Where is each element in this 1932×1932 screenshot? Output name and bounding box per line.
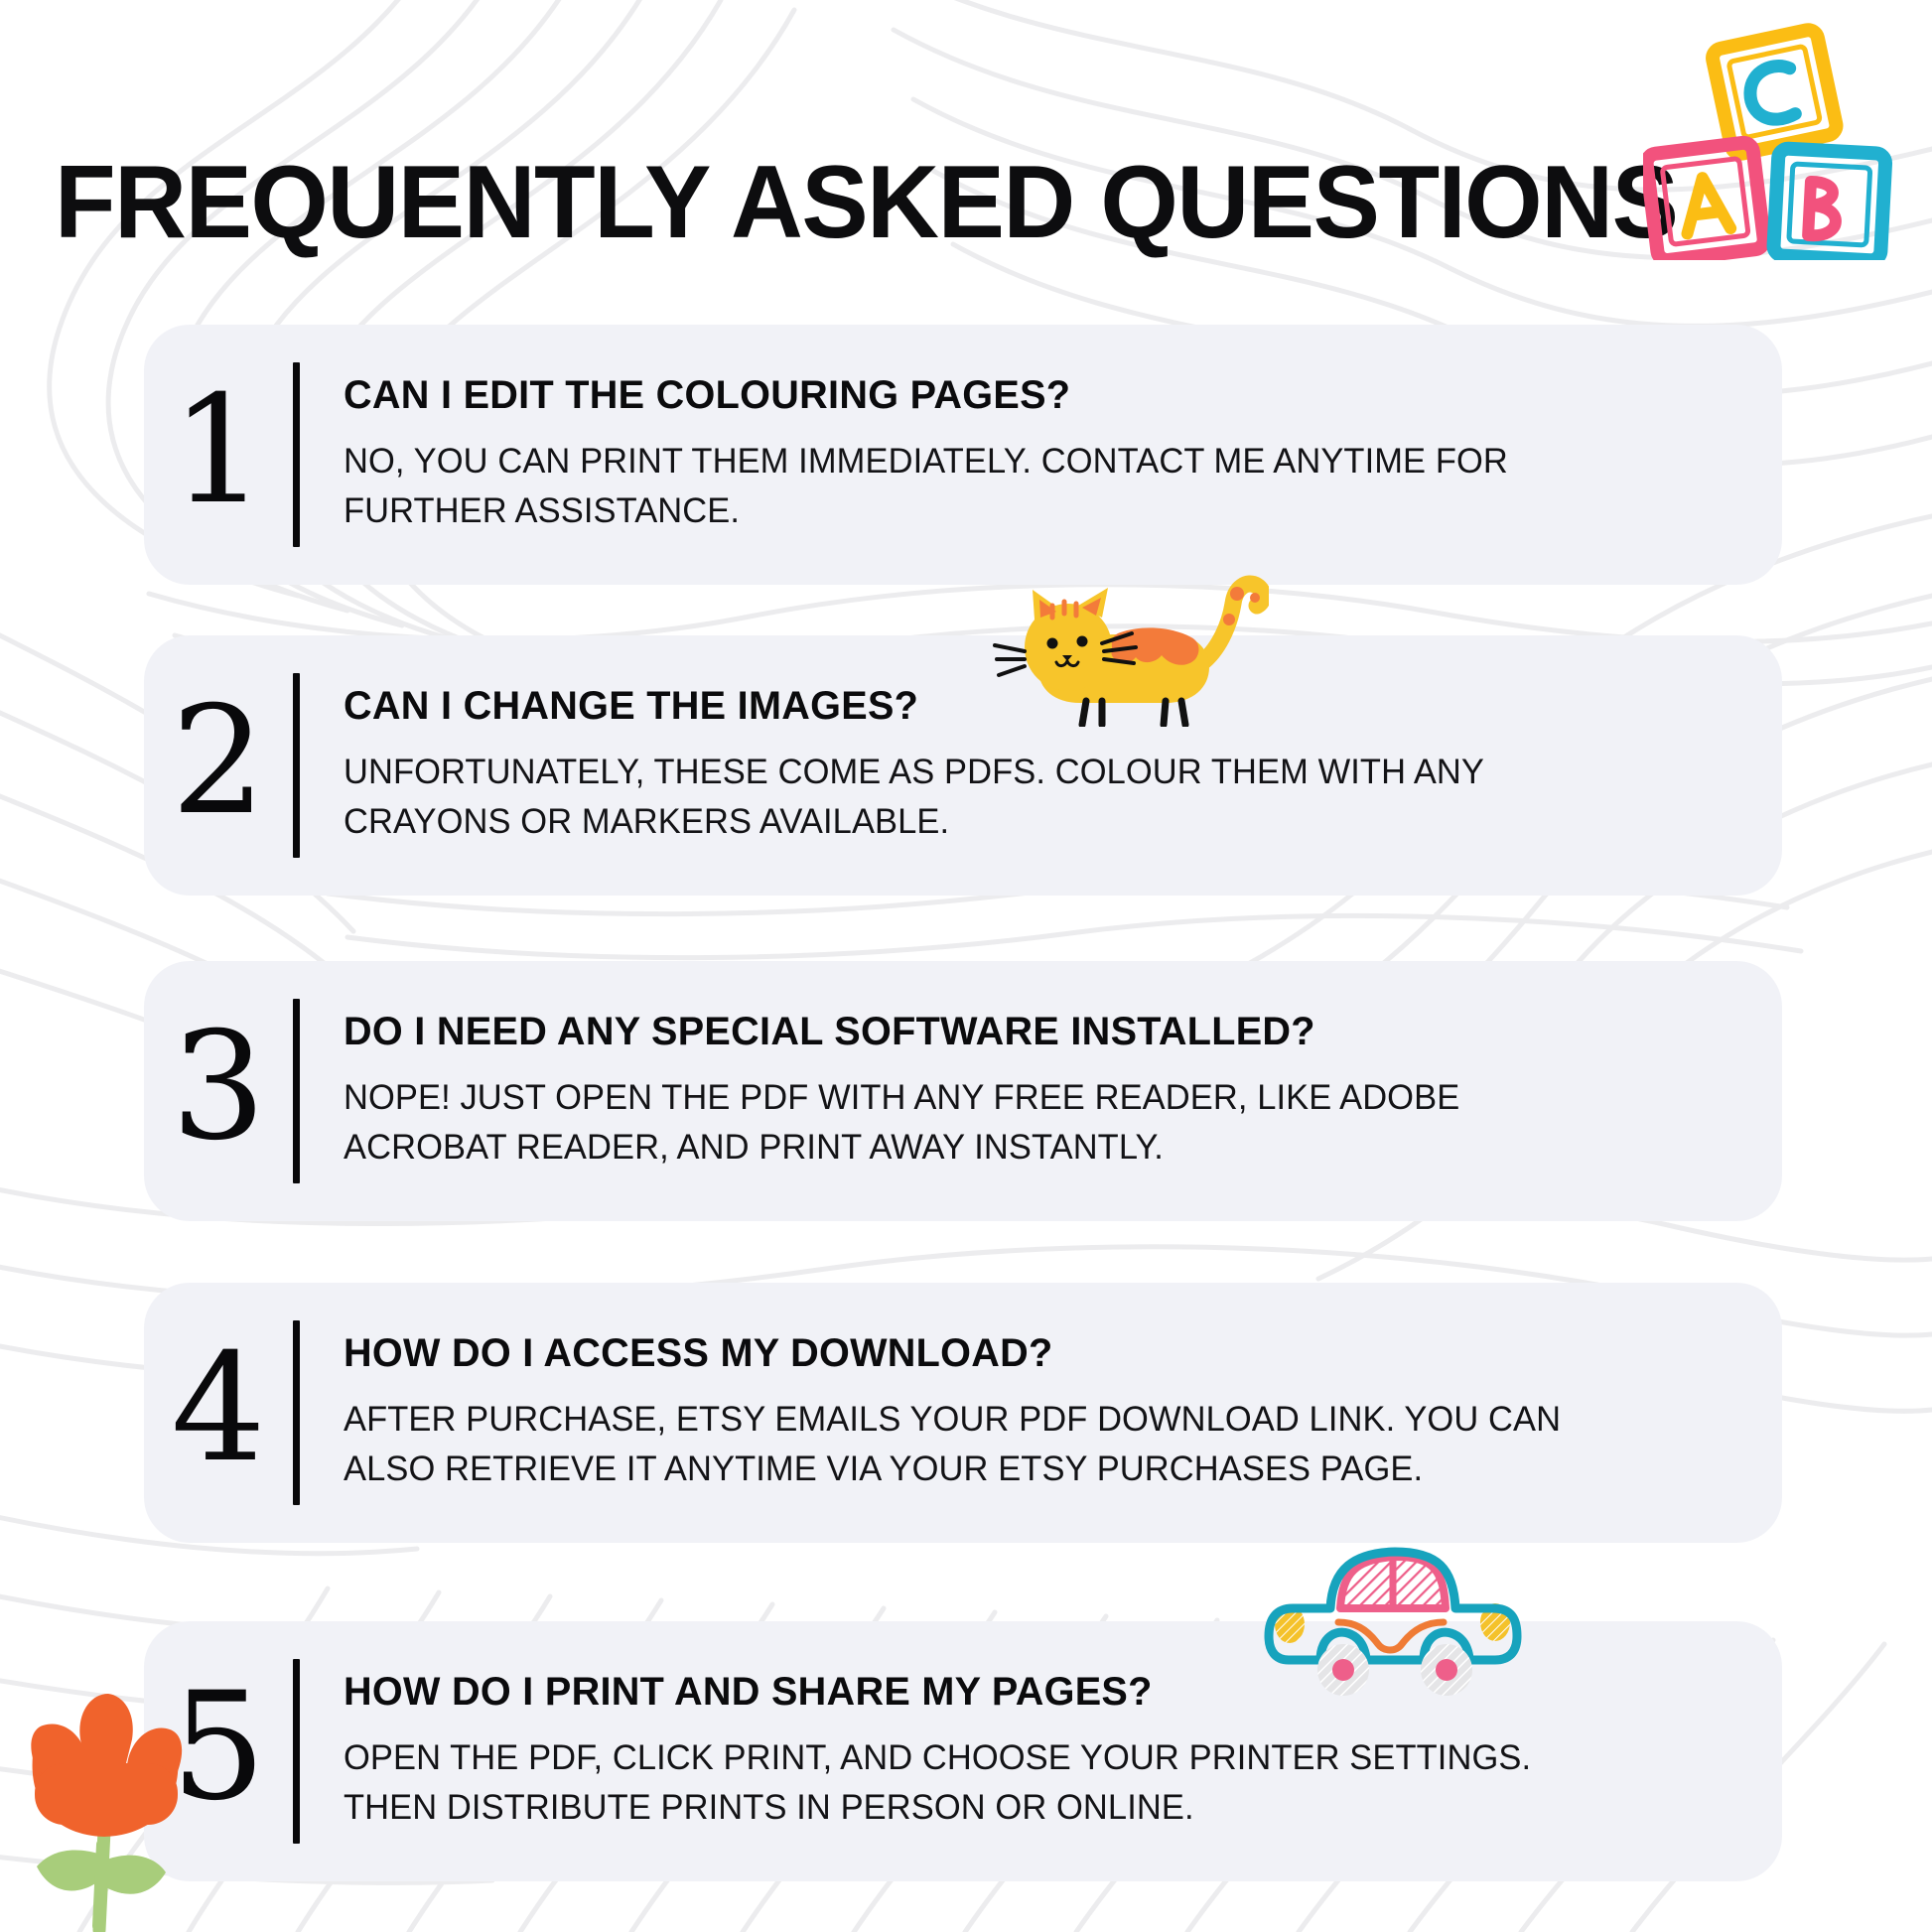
faq-divider <box>293 362 300 547</box>
faq-divider <box>293 999 300 1183</box>
faq-card[interactable]: 5 HOW DO I PRINT AND SHARE MY PAGES? OPE… <box>144 1621 1782 1881</box>
faq-answer: OPEN THE PDF, CLICK PRINT, AND CHOOSE YO… <box>344 1733 1605 1832</box>
faq-question: CAN I CHANGE THE IMAGES? <box>344 684 1726 728</box>
faq-number: 3 <box>144 961 293 1221</box>
faq-question: HOW DO I ACCESS MY DOWNLOAD? <box>344 1331 1726 1375</box>
faq-answer: NOPE! JUST OPEN THE PDF WITH ANY FREE RE… <box>344 1073 1605 1172</box>
faq-card[interactable]: 3 DO I NEED ANY SPECIAL SOFTWARE INSTALL… <box>144 961 1782 1221</box>
faq-answer: NO, YOU CAN PRINT THEM IMMEDIATELY. CONT… <box>344 437 1605 535</box>
faq-card[interactable]: 1 CAN I EDIT THE COLOURING PAGES? NO, YO… <box>144 325 1782 585</box>
faq-number: 2 <box>144 635 293 896</box>
faq-question: DO I NEED ANY SPECIAL SOFTWARE INSTALLED… <box>344 1010 1726 1053</box>
faq-list: 1 CAN I EDIT THE COLOURING PAGES? NO, YO… <box>0 0 1932 1932</box>
faq-card[interactable]: 2 CAN I CHANGE THE IMAGES? UNFORTUNATELY… <box>144 635 1782 896</box>
faq-divider <box>293 1320 300 1505</box>
faq-divider <box>293 673 300 858</box>
faq-number: 5 <box>144 1621 293 1881</box>
faq-question: CAN I EDIT THE COLOURING PAGES? <box>344 373 1726 417</box>
faq-number: 1 <box>144 325 293 585</box>
faq-number: 4 <box>144 1283 293 1543</box>
faq-answer: AFTER PURCHASE, ETSY EMAILS YOUR PDF DOW… <box>344 1395 1605 1493</box>
faq-answer: UNFORTUNATELY, THESE COME AS PDFS. COLOU… <box>344 748 1605 846</box>
faq-question: HOW DO I PRINT AND SHARE MY PAGES? <box>344 1670 1726 1714</box>
faq-card[interactable]: 4 HOW DO I ACCESS MY DOWNLOAD? AFTER PUR… <box>144 1283 1782 1543</box>
faq-divider <box>293 1659 300 1844</box>
